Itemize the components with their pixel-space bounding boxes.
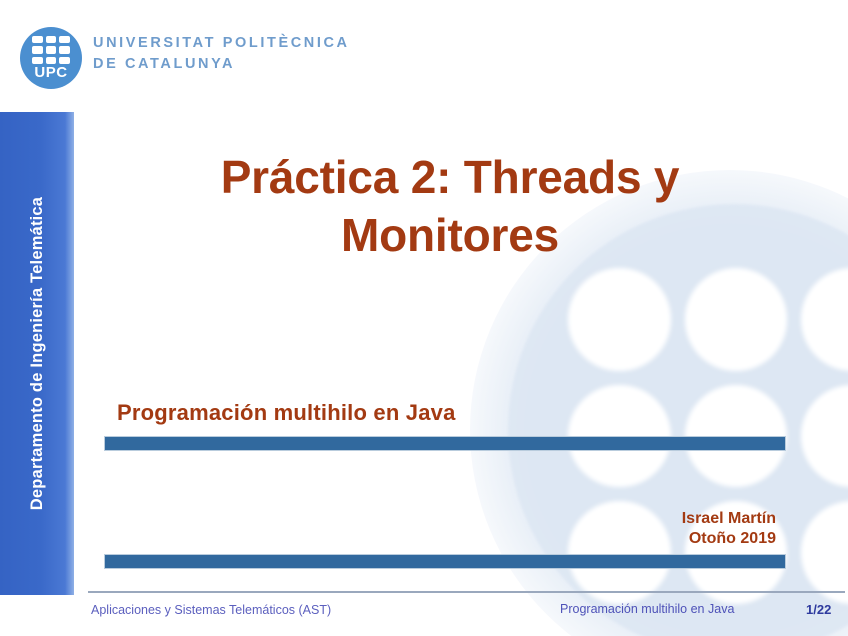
university-name: UNIVERSITAT POLITÈCNICA DE CATALUNYA bbox=[93, 33, 350, 75]
slide-subtitle: Programación multihilo en Java bbox=[117, 400, 456, 426]
divider-bar-top bbox=[105, 437, 785, 450]
footer-page-number: 1/22 bbox=[806, 602, 831, 617]
footer-divider bbox=[88, 591, 845, 593]
watermark-dot bbox=[801, 385, 848, 488]
watermark-dot bbox=[568, 385, 671, 488]
watermark-dot bbox=[568, 268, 671, 371]
logo-dot bbox=[59, 36, 70, 43]
logo-dot bbox=[32, 46, 43, 53]
watermark-dot bbox=[801, 268, 848, 371]
upc-watermark-dots-icon bbox=[568, 268, 848, 604]
department-sidebar: Departamento de Ingeniería Telemática bbox=[0, 112, 74, 595]
logo-dot bbox=[46, 36, 57, 43]
upc-logo-icon: UPC bbox=[20, 27, 82, 89]
watermark-dot bbox=[801, 501, 848, 604]
author-name: Israel Martín bbox=[682, 509, 776, 529]
footer-course-label: Aplicaciones y Sistemas Telemáticos (AST… bbox=[91, 603, 331, 617]
logo-dot-grid bbox=[32, 36, 70, 64]
logo-dot bbox=[59, 57, 70, 64]
logo-dot bbox=[46, 57, 57, 64]
presentation-slide: UPC UNIVERSITAT POLITÈCNICA DE CATALUNYA… bbox=[0, 0, 848, 636]
university-name-line-2: DE CATALUNYA bbox=[93, 54, 350, 75]
slide-title: Práctica 2: Threads y Monitores bbox=[110, 148, 790, 264]
watermark-dot bbox=[685, 385, 788, 488]
watermark-dot bbox=[685, 268, 788, 371]
logo-dot bbox=[32, 57, 43, 64]
divider-bar-bottom bbox=[105, 555, 785, 568]
department-label: Departamento de Ingeniería Telemática bbox=[0, 112, 74, 595]
author-block: Israel Martín Otoño 2019 bbox=[682, 509, 776, 549]
footer-topic-label: Programación multihilo en Java bbox=[560, 602, 734, 616]
watermark-dot bbox=[568, 501, 671, 604]
university-name-line-1: UNIVERSITAT POLITÈCNICA bbox=[93, 33, 350, 54]
logo-dot bbox=[59, 46, 70, 53]
logo-acronym: UPC bbox=[20, 65, 82, 80]
logo-dot bbox=[32, 36, 43, 43]
author-term: Otoño 2019 bbox=[682, 529, 776, 549]
logo-dot bbox=[46, 46, 57, 53]
